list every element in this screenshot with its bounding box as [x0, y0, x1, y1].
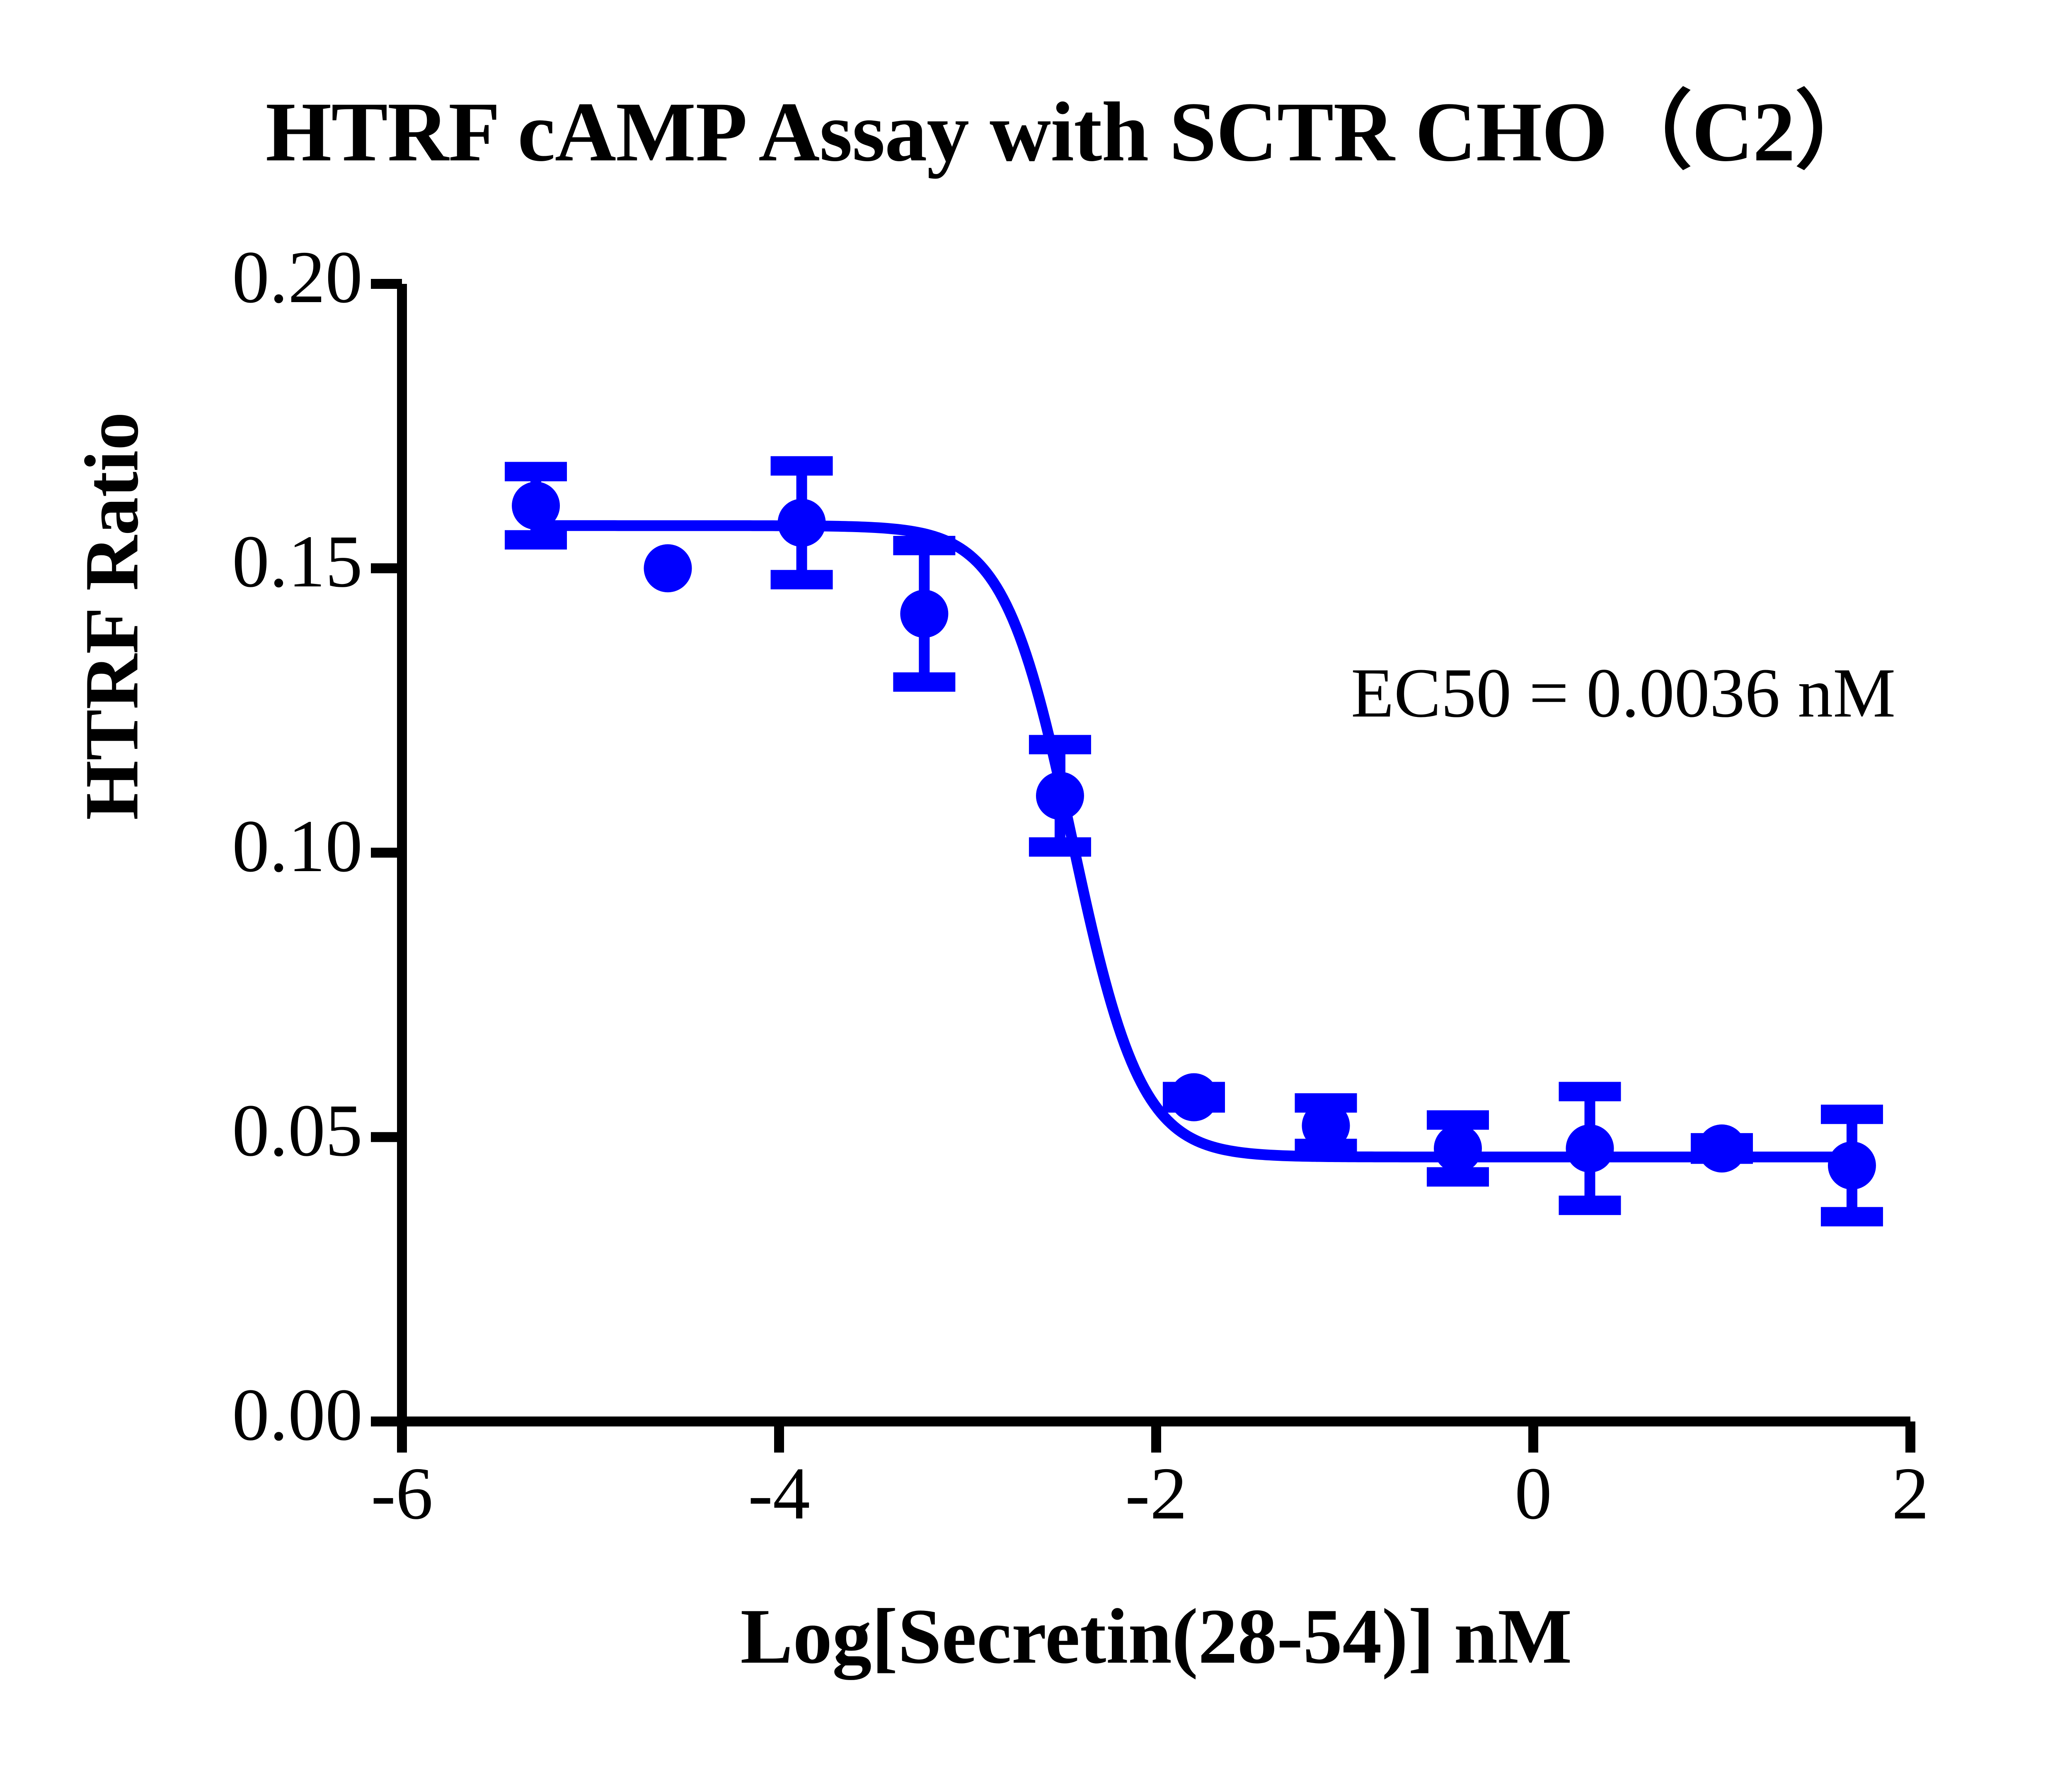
plot-area	[0, 0, 2072, 1787]
data-points	[512, 482, 1876, 1189]
chart-figure: HTRF cAMP Assay with SCTR CHO（C2） HTRF R…	[0, 0, 2072, 1787]
axes-group	[371, 284, 1910, 1453]
fit-curve	[536, 525, 1852, 1157]
